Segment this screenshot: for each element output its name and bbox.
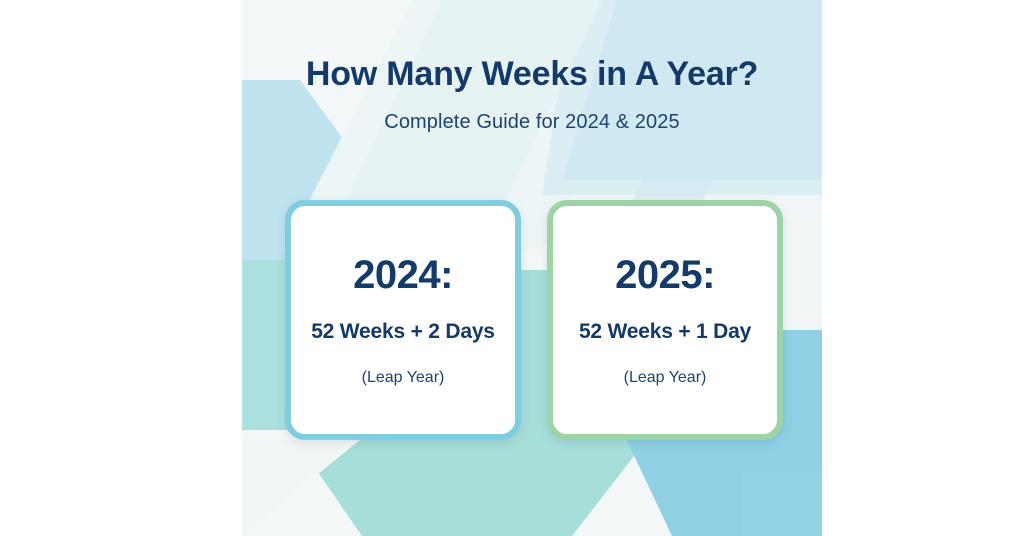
heading-block: How Many Weeks in A Year? Complete Guide… (242, 0, 822, 134)
right-blue-corner (742, 470, 822, 536)
card-year-label: 2024: (353, 255, 453, 295)
card-weeks-label: 52 Weeks + 1 Day (579, 321, 751, 342)
year-card-2025: 2025: 52 Weeks + 1 Day (Leap Year) (547, 200, 783, 440)
page-subtitle: Complete Guide for 2024 & 2025 (242, 94, 822, 134)
screenshot-canvas: How Many Weeks in A Year? Complete Guide… (0, 0, 1024, 536)
card-note-label: (Leap Year) (624, 370, 707, 386)
year-card-2024: 2024: 52 Weeks + 2 Days (Leap Year) (285, 200, 521, 440)
card-note-label: (Leap Year) (362, 370, 445, 386)
card-weeks-label: 52 Weeks + 2 Days (311, 321, 495, 342)
page-title: How Many Weeks in A Year? (242, 0, 822, 94)
infographic-panel: How Many Weeks in A Year? Complete Guide… (242, 0, 822, 536)
card-year-label: 2025: (615, 255, 715, 295)
